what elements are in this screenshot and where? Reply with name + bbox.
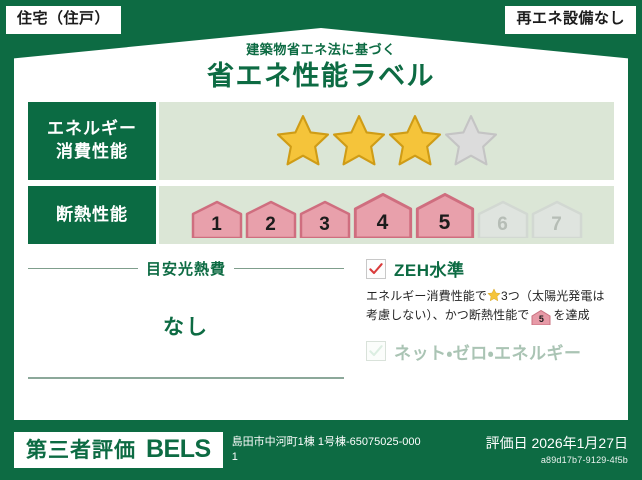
insulation-level-7: 7: [531, 200, 583, 238]
star-icon-filled: [331, 113, 387, 169]
insulation-level-6: 6: [477, 200, 529, 238]
insulation-level-value: 6: [497, 215, 508, 238]
insulation-level-value: 5: [439, 212, 451, 238]
inline-house-value: 5: [531, 310, 551, 329]
insulation-level-value: 1: [211, 215, 222, 238]
star-rating: [275, 113, 499, 169]
building-type-badge: 住宅（住戸）: [6, 6, 121, 34]
insulation-level-value: 3: [319, 215, 330, 238]
insulation-performance-label: 断熱性能: [28, 186, 156, 244]
energy-label-line1: エネルギー: [47, 118, 137, 141]
roof-shape: [14, 28, 628, 94]
renewable-equipment-badge: 再エネ設備なし: [505, 6, 636, 34]
lower-section: 目安光熱費 なし ZEH水準 エネルギー消費性能で3つ（太陽光発電は考慮: [28, 254, 614, 414]
insulation-level-4: 4: [353, 192, 413, 238]
third-party-evaluation-label: 第三者評価: [26, 440, 136, 461]
check-icon: [368, 261, 384, 277]
insulation-level-1: 1: [191, 200, 243, 238]
insulation-level-value: 7: [551, 215, 562, 238]
energy-performance-label: エネルギー 消費性能: [28, 102, 156, 180]
zeh-block: ZEH水準 エネルギー消費性能で3つ（太陽光発電は考慮しない）、かつ断熱性能で5…: [358, 254, 614, 414]
zeh-desc-part1: エネルギー消費性能で: [366, 289, 487, 303]
footer-meta: 評価日 2026年1月27日 a89d17b7-9129-4f5b: [486, 435, 628, 465]
insulation-level-5: 5: [415, 192, 475, 238]
bels-logo: BELS: [146, 437, 211, 462]
zeh-title: ZEH水準: [394, 256, 465, 281]
utility-cost-value: なし: [28, 311, 344, 341]
bels-plate: 第三者評価 BELS: [14, 432, 223, 468]
net-zero-row: ネット・ゼロ・エネルギー: [366, 339, 614, 364]
property-address: 島田市中河町1棟 1号棟-65075025-0001: [232, 435, 427, 465]
star-icon-filled: [387, 113, 443, 169]
insulation-performance-value: 1234567: [159, 186, 614, 244]
insulation-label-text: 断熱性能: [56, 204, 128, 227]
heading-rule-left: [28, 268, 138, 269]
net-zero-title: ネット・ゼロ・エネルギー: [394, 339, 582, 364]
check-icon-faded: [368, 343, 384, 359]
insulation-scale: 1234567: [191, 192, 583, 238]
energy-performance-value: [159, 102, 614, 180]
energy-label-line2: 消費性能: [56, 141, 128, 164]
inline-insulation-badge: 5: [531, 310, 551, 325]
zeh-desc-part3: を達成: [553, 308, 589, 322]
star-icon-empty: [443, 113, 499, 169]
insulation-level-value: 2: [265, 215, 276, 238]
evaluation-date: 評価日 2026年1月27日: [486, 435, 628, 452]
energy-performance-label: 住宅（住戸） 再エネ設備なし 建築物省エネ法に基づく 省エネ性能ラベル エネルギ…: [0, 0, 642, 480]
zeh-checkbox[interactable]: [366, 259, 386, 279]
star-icon-filled: [275, 113, 331, 169]
net-zero-checkbox[interactable]: [366, 341, 386, 361]
label-body: エネルギー 消費性能 断熱性能 1234567 目安光熱費: [14, 92, 628, 420]
heading-rule-right: [234, 268, 344, 269]
utility-cost-divider: [28, 377, 344, 379]
utility-cost-heading: 目安光熱費: [28, 258, 344, 279]
zeh-description: エネルギー消費性能で3つ（太陽光発電は考慮しない）、かつ断熱性能で5を達成: [366, 287, 614, 325]
insulation-level-value: 4: [377, 212, 389, 238]
energy-performance-row: エネルギー 消費性能: [28, 102, 614, 180]
certificate-id: a89d17b7-9129-4f5b: [486, 455, 628, 465]
insulation-level-3: 3: [299, 200, 351, 238]
utility-cost-block: 目安光熱費 なし: [28, 254, 358, 414]
zeh-header-row: ZEH水準: [366, 256, 614, 281]
insulation-performance-row: 断熱性能 1234567: [28, 186, 614, 244]
inline-star-icon: [487, 288, 501, 302]
label-footer: 第三者評価 BELS 島田市中河町1棟 1号棟-65075025-0001 評価…: [0, 420, 642, 480]
utility-cost-heading-text: 目安光熱費: [146, 258, 226, 279]
insulation-level-2: 2: [245, 200, 297, 238]
